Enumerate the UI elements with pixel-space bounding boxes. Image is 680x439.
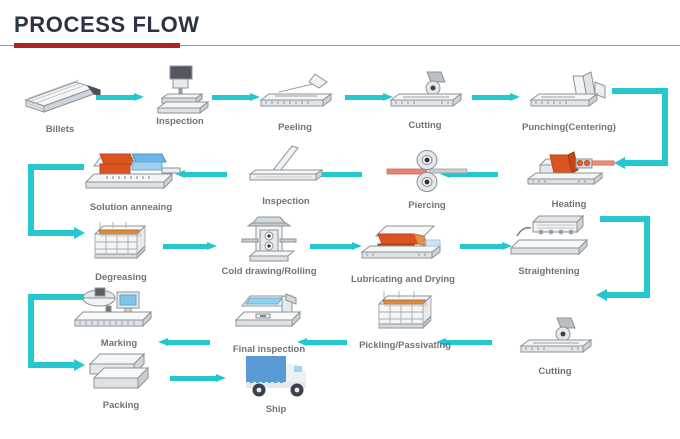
induction-heater-icon bbox=[511, 147, 627, 197]
flow-step-label: Punching(Centering) bbox=[511, 122, 627, 133]
packing-crate-icon bbox=[63, 348, 179, 398]
process-flow-diagram: Billets bbox=[0, 52, 680, 439]
flow-step-label: Straightening bbox=[491, 266, 607, 277]
flow-step-cutting-2[interactable]: Cutting bbox=[497, 314, 613, 377]
flow-step-punching[interactable]: Punching(Centering) bbox=[511, 70, 627, 133]
peeling-machine-icon bbox=[237, 70, 353, 120]
rolling-mill-icon bbox=[211, 214, 327, 264]
flow-step-straightening[interactable]: Straightening bbox=[491, 214, 607, 277]
flow-step-lubricating[interactable]: Lubricating and Drying bbox=[345, 222, 461, 285]
flow-step-degreasing[interactable]: Degreasing bbox=[63, 220, 179, 283]
flow-step-label: Cutting bbox=[367, 120, 483, 131]
header-accent-bar bbox=[14, 43, 180, 48]
flow-step-packing[interactable]: Packing bbox=[63, 348, 179, 411]
flow-step-label: Peeling bbox=[237, 122, 353, 133]
flow-step-pickling[interactable]: Pickling/Passivating bbox=[347, 288, 463, 351]
flow-step-final-inspection[interactable]: Final inspection bbox=[211, 292, 327, 355]
flow-step-cutting-1[interactable]: Cutting bbox=[367, 68, 483, 131]
straightener-icon bbox=[491, 214, 607, 264]
page-header: PROCESS FLOW bbox=[0, 0, 680, 52]
delivery-truck-icon bbox=[218, 352, 334, 402]
degreasing-tank-icon bbox=[63, 220, 179, 270]
flow-step-label: Heating bbox=[511, 199, 627, 210]
flow-step-label: Degreasing bbox=[63, 272, 179, 283]
arrow-degreasing-to-cold-drawing bbox=[163, 242, 217, 251]
flow-step-label: Lubricating and Drying bbox=[345, 274, 461, 285]
flow-step-heating[interactable]: Heating bbox=[511, 147, 627, 210]
flow-step-peeling[interactable]: Peeling bbox=[237, 70, 353, 133]
flow-step-piercing[interactable]: Piercing bbox=[369, 148, 485, 211]
piercing-rollers-icon bbox=[369, 148, 485, 198]
flow-step-label: Cutting bbox=[497, 366, 613, 377]
flow-step-ship[interactable]: Ship bbox=[218, 352, 334, 415]
flow-step-label: Pickling/Passivating bbox=[347, 340, 463, 351]
pickling-tank-icon bbox=[347, 288, 463, 338]
flow-step-label: Packing bbox=[63, 400, 179, 411]
cutting-saw-icon bbox=[497, 314, 613, 364]
inspection-probe-icon bbox=[228, 144, 344, 194]
process-flow-page: PROCESS FLOW bbox=[0, 0, 680, 439]
flow-step-inspection-2[interactable]: Inspection bbox=[228, 144, 344, 207]
flow-step-billets[interactable]: Billets bbox=[2, 72, 118, 135]
inspection-press-icon bbox=[122, 64, 238, 114]
flow-step-label: Piercing bbox=[369, 200, 485, 211]
flow-step-label: Billets bbox=[2, 124, 118, 135]
flow-step-label: Inspection bbox=[228, 196, 344, 207]
connector-straightening-to-cutting bbox=[594, 216, 658, 312]
punching-machine-icon bbox=[511, 70, 627, 120]
flow-step-label: Ship bbox=[218, 404, 334, 415]
final-inspection-icon bbox=[211, 292, 327, 342]
lubricating-oven-icon bbox=[345, 222, 461, 272]
page-title: PROCESS FLOW bbox=[14, 12, 200, 38]
cutting-saw-icon bbox=[367, 68, 483, 118]
